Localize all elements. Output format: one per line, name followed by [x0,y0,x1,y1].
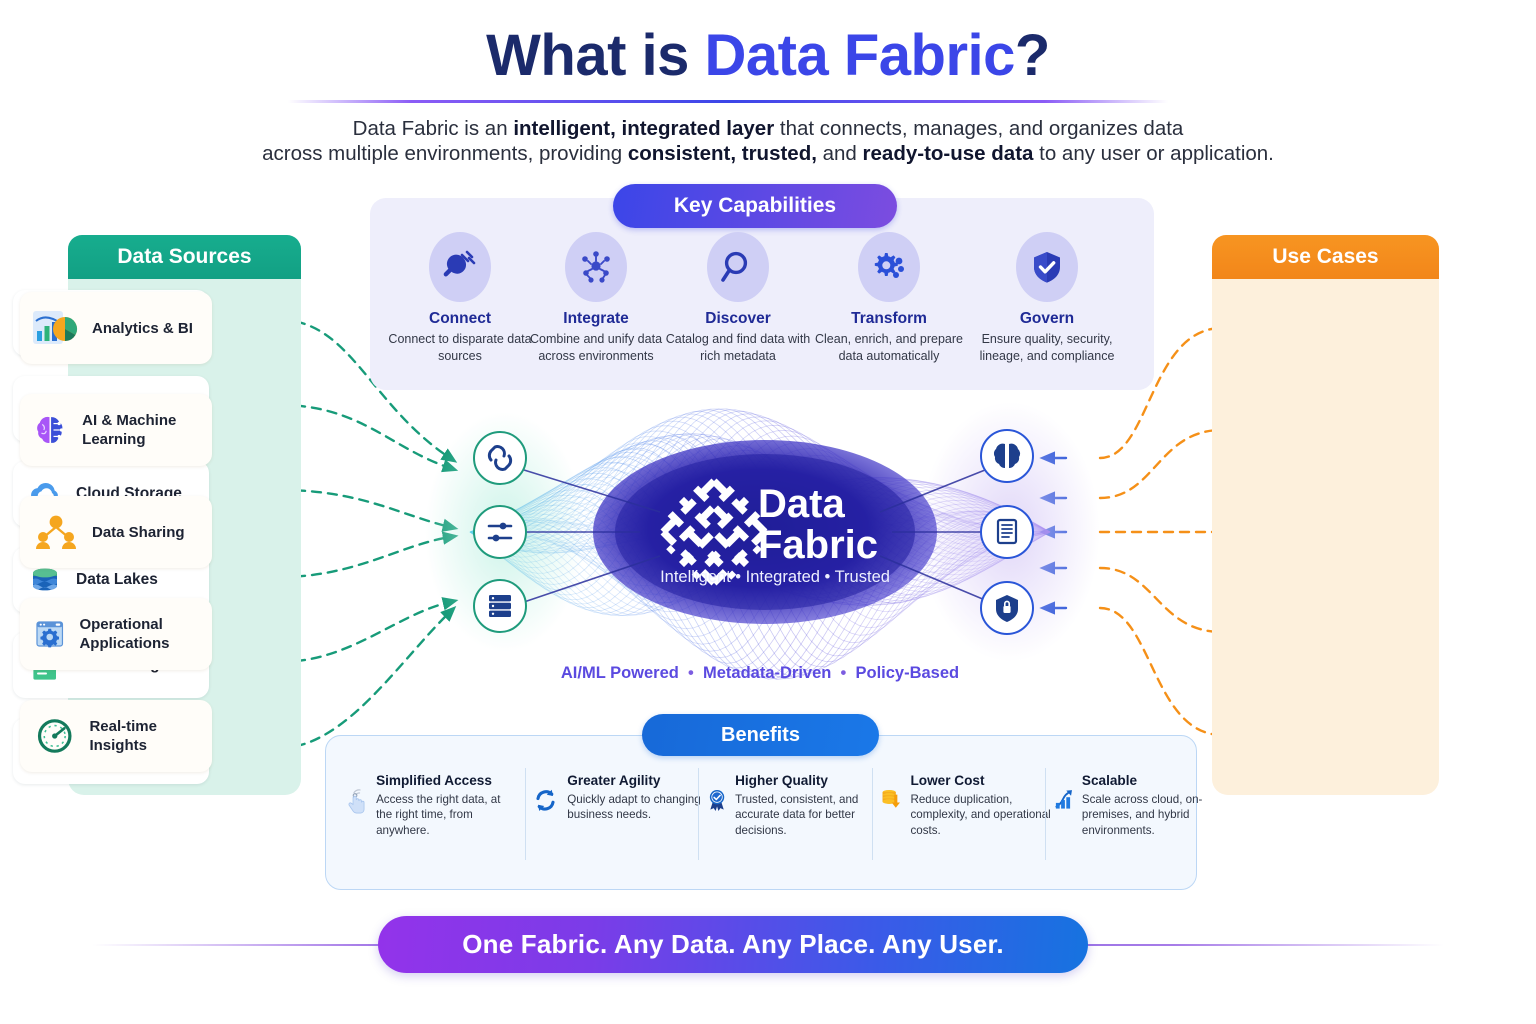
hub-title-line2: Fabric [758,525,988,566]
use-case-label: Real-time Insights [89,717,212,755]
title-divider [288,100,1168,103]
benefit-divider [1045,768,1046,860]
shield-check-icon [1029,249,1065,285]
hub-caption: AI/ML Powered • Metadata-Driven • Policy… [450,664,1070,683]
use-cases-header: Use Cases [1212,235,1439,279]
hub-caption-2: Metadata-Driven [703,664,831,682]
benefit-greater-agility[interactable]: Greater Agility Quickly adapt to changin… [533,773,705,829]
capability-icon-wrap [565,232,627,302]
benefit-text: Scalable Scale across cloud, on-premises… [1082,773,1226,838]
capability-title: Connect [385,310,535,328]
brain-icon [994,444,1020,468]
benefit-title: Greater Agility [567,773,705,788]
benefit-text: Lower Cost Reduce duplication, complexit… [910,773,1053,838]
capability-icon-wrap [707,232,769,302]
title-suffix: ? [1015,23,1050,88]
document-icon [998,520,1016,543]
benefit-text: Higher Quality Trusted, consistent, and … [735,773,879,838]
network-nodes-icon [578,249,614,285]
hub-tagline: Intelligent • Integrated • Trusted [560,568,990,587]
benefit-desc: Scale across cloud, on-premises, and hyb… [1082,792,1226,838]
capability-title: Integrate [521,310,671,328]
use-case-item-ai-machine-learning[interactable]: AI & Machine Learning [20,394,212,466]
capability-title: Govern [972,310,1122,328]
use-cases-panel [1212,235,1439,795]
benefit-higher-quality[interactable]: Higher Quality Trusted, consistent, and … [707,773,879,838]
hub-caption-1: AI/ML Powered [561,664,679,682]
shield-lock-icon [996,595,1018,622]
capability-desc: Connect to disparate data sources [385,331,535,364]
subtitle-l2c: and [817,142,863,165]
chart-pie-icon [31,307,81,349]
quality-ribbon-icon [707,773,727,829]
subtitle-line-2: across multiple environments, providing … [0,141,1536,166]
subtitle-l2b: consistent, trusted, [628,142,817,165]
benefit-scalable[interactable]: Scalable Scale across cloud, on-premises… [1054,773,1226,838]
benefit-desc: Quickly adapt to changing business needs… [567,792,705,823]
subtitle-l2a: across multiple environments, providing [262,142,628,165]
capability-desc: Catalog and find data with rich metadata [663,331,813,364]
page-title: What is Data Fabric? [0,22,1536,89]
benefit-desc: Access the right data, at the right time… [376,792,517,838]
benefit-simplified-access[interactable]: Simplified Access Access the right data,… [345,773,517,838]
hub-caption-3: Policy-Based [855,664,959,682]
hub-title-line1: Data [758,484,988,525]
benefit-divider [525,768,526,860]
growth-chart-icon [1054,773,1074,829]
capability-title: Transform [814,310,964,328]
benefit-title: Simplified Access [376,773,517,788]
capability-icon-wrap [858,232,920,302]
benefit-lower-cost[interactable]: Lower Cost Reduce duplication, complexit… [881,773,1053,838]
use-case-item-analytics-bi[interactable]: Analytics & BI [20,292,212,364]
bullet-separator: • [836,664,856,682]
benefit-text: Greater Agility Quickly adapt to changin… [567,773,705,829]
capability-integrate[interactable]: Integrate Combine and unify data across … [521,232,671,364]
data-sources-header: Data Sources [68,235,301,279]
benefit-title: Scalable [1082,773,1226,788]
hub-right-nodes [981,430,1033,634]
capability-govern[interactable]: Govern Ensure quality, security, lineage… [972,232,1122,364]
benefit-title: Lower Cost [910,773,1053,788]
refresh-cycle-icon [533,773,559,829]
data-source-label: Data Lakes [76,571,158,589]
magnifier-icon [720,249,756,285]
benefit-text: Simplified Access Access the right data,… [376,773,517,838]
people-share-icon [31,511,81,553]
subtitle-l1b: intelligent, integrated layer [513,117,774,140]
title-accent: Data Fabric [705,23,1015,88]
key-capabilities-badge: Key Capabilities [613,184,897,228]
benefit-divider [872,768,873,860]
capability-connect[interactable]: Connect Connect to disparate data source… [385,232,535,364]
use-case-item-operational-applications[interactable]: Operational Applications [20,598,212,670]
plug-icon [442,249,478,285]
use-case-label: AI & Machine Learning [82,411,212,449]
hub-left-nodes [474,432,526,632]
subtitle-l1a: Data Fabric is an [353,117,514,140]
capability-discover[interactable]: Discover Catalog and find data with rich… [663,232,813,364]
benefit-desc: Reduce duplication, complexity, and oper… [910,792,1053,838]
capability-desc: Combine and unify data across environmen… [521,331,671,364]
page-subtitle: Data Fabric is an intelligent, integrate… [0,116,1536,166]
window-gear-icon [31,613,68,655]
hand-click-icon [345,773,368,831]
use-case-item-data-sharing[interactable]: Data Sharing [20,496,212,568]
title-plain: What is [486,23,704,88]
coins-down-arrow-icon [881,773,902,829]
server-rack-icon [489,595,511,617]
use-case-label: Data Sharing [92,523,185,542]
gears-icon [871,249,907,285]
benefit-divider [698,768,699,860]
use-case-label: Analytics & BI [92,319,193,338]
capability-transform[interactable]: Transform Clean, enrich, and prepare dat… [814,232,964,364]
use-case-label: Operational Applications [79,615,212,653]
link-chain-icon [489,447,510,470]
sliders-icon [489,523,511,542]
benefit-desc: Trusted, consistent, and accurate data f… [735,792,879,838]
brain-circuit-icon [31,409,71,451]
capability-icon-wrap [429,232,491,302]
use-case-item-real-time-insights[interactable]: Real-time Insights [20,700,212,772]
capability-desc: Clean, enrich, and prepare data automati… [814,331,964,364]
speedometer-icon [31,715,78,757]
subtitle-l2e: to any user or application. [1033,142,1273,165]
subtitle-l2d: ready-to-use data [863,142,1034,165]
benefits-badge: Benefits [642,714,879,756]
hub-title: Data Fabric [758,484,988,566]
subtitle-l1c: that connects, manages, and organizes da… [774,117,1183,140]
bullet-separator: • [683,664,703,682]
capability-desc: Ensure quality, security, lineage, and c… [972,331,1122,364]
benefit-title: Higher Quality [735,773,879,788]
footer-banner: One Fabric. Any Data. Any Place. Any Use… [378,916,1088,973]
subtitle-line-1: Data Fabric is an intelligent, integrate… [0,116,1536,141]
capability-icon-wrap [1016,232,1078,302]
capability-title: Discover [663,310,813,328]
